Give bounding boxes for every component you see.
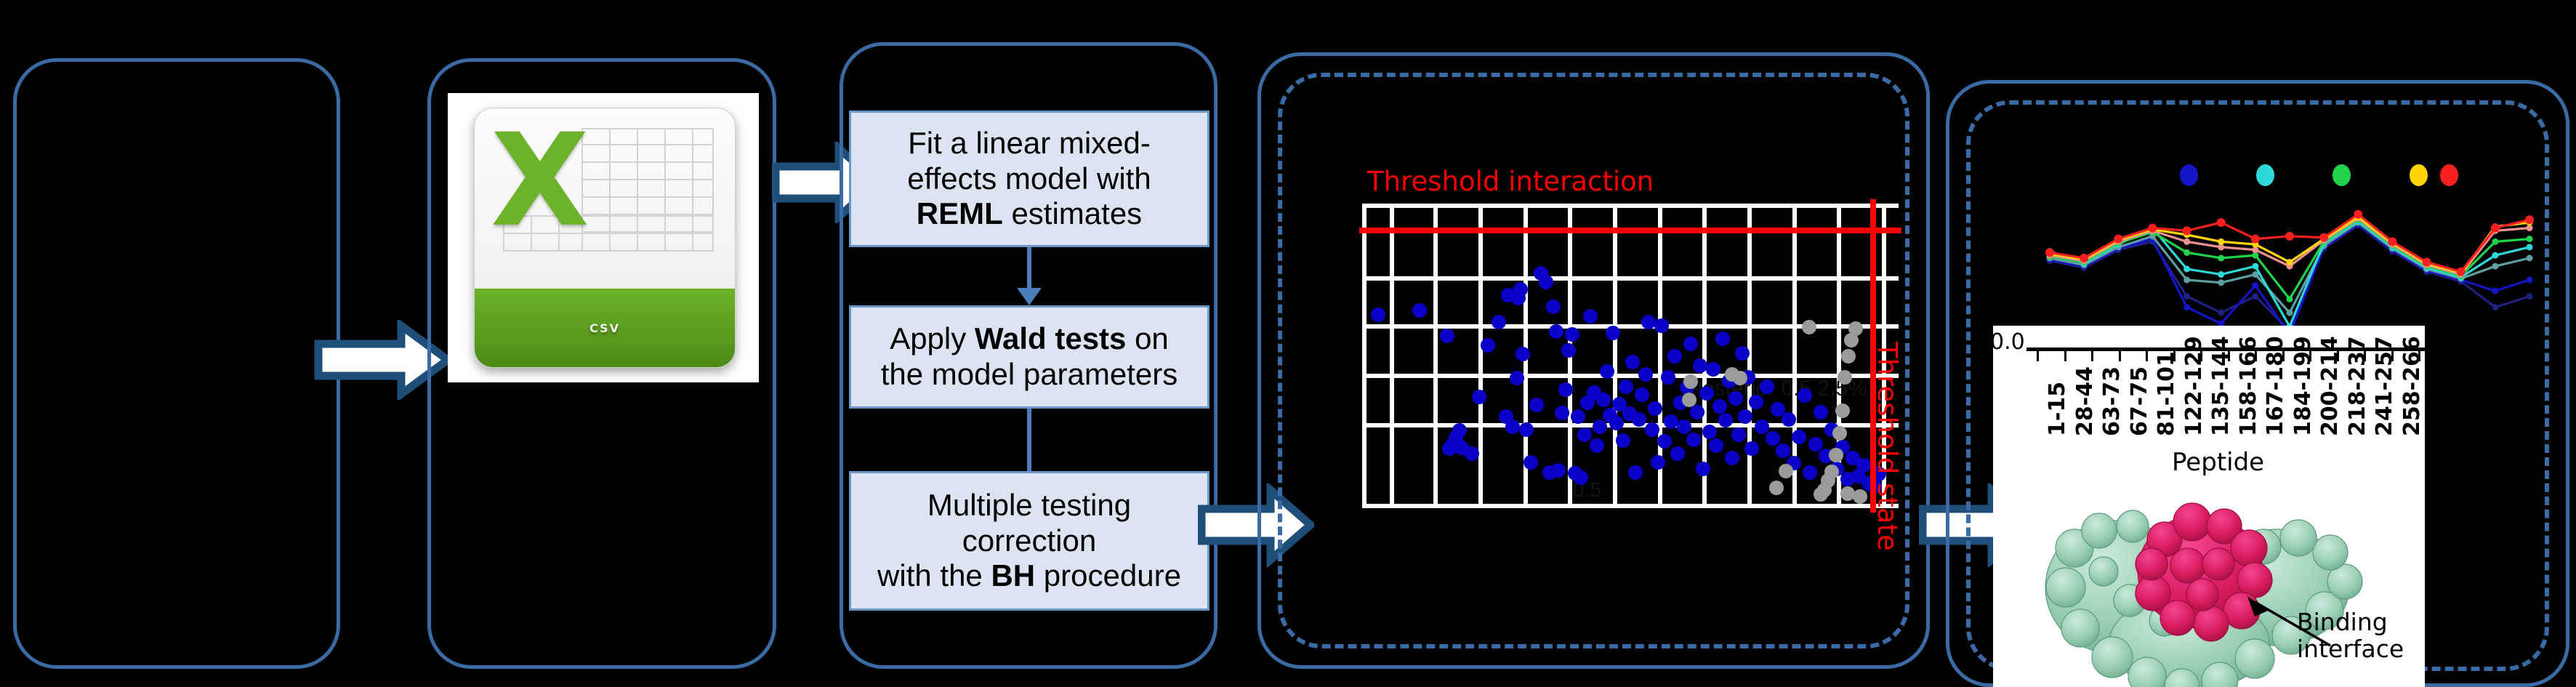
scatter-point xyxy=(1731,427,1746,442)
scatter-point xyxy=(1814,405,1828,419)
input-panel xyxy=(13,58,340,669)
peptide-axis-title: Peptide xyxy=(2172,448,2264,477)
scatter-point xyxy=(1715,332,1730,346)
scatter-point xyxy=(1728,391,1743,406)
axis-tick xyxy=(2119,350,2121,361)
line-marker xyxy=(2492,252,2498,259)
scatter-point xyxy=(1670,446,1685,461)
scatter-point xyxy=(1835,403,1850,418)
line-marker xyxy=(2388,237,2396,246)
scatter-point xyxy=(1683,337,1698,351)
binding-interface-line-1: Binding xyxy=(2297,609,2404,636)
scatter-point xyxy=(1832,426,1847,441)
scatter-point xyxy=(1702,425,1717,439)
scatter-point xyxy=(1546,300,1561,314)
scatter-point xyxy=(1571,409,1585,424)
scatter-point xyxy=(1625,355,1640,369)
line-marker xyxy=(2287,259,2293,265)
scatter-point xyxy=(1683,374,1698,389)
axis-tick xyxy=(2091,350,2093,361)
legend-dot-blue xyxy=(2180,164,2198,186)
line-marker xyxy=(2491,224,2500,233)
scatter-point xyxy=(1641,315,1656,329)
csv-file-icon: X CSV xyxy=(474,108,736,368)
scatter-point xyxy=(1510,371,1524,385)
line-marker xyxy=(2183,277,2190,284)
line-marker xyxy=(2354,210,2362,219)
line-marker xyxy=(2252,282,2258,289)
line-marker xyxy=(2527,255,2533,262)
scatter-point xyxy=(1706,362,1720,377)
scatter-point xyxy=(1848,321,1863,336)
scatter-point xyxy=(1735,346,1750,361)
scatter-point xyxy=(1699,386,1714,401)
scatter-point xyxy=(1593,419,1607,434)
scatter-point xyxy=(1693,358,1707,373)
workflow-diagram: X CSV Fit a linear mixed-effects model w… xyxy=(0,0,2576,687)
line-marker xyxy=(2218,271,2224,278)
scatter-point xyxy=(1600,364,1614,379)
step-multiple-testing-box: Multiple testingcorrectionwith the BH pr… xyxy=(849,471,1209,611)
peptide-tick-label: 258-266 xyxy=(2399,336,2425,436)
line-marker xyxy=(2114,235,2122,244)
scatter-point xyxy=(1841,349,1856,363)
legend-dot-yellow xyxy=(2410,164,2428,186)
scatter-point xyxy=(1583,309,1598,324)
line-marker xyxy=(2492,263,2498,270)
scatter-point xyxy=(1452,423,1467,438)
csv-icon-plate: X CSV xyxy=(448,93,759,382)
line-marker xyxy=(2080,254,2088,262)
scatter-point xyxy=(1472,390,1486,404)
line-marker xyxy=(2183,238,2190,245)
scatter-point xyxy=(1677,419,1691,434)
peptide-tick-label: 67-75 xyxy=(2127,366,2152,436)
line-marker xyxy=(2527,293,2533,300)
line-marker xyxy=(2527,236,2533,242)
peptide-tick-label: 218-237 xyxy=(2345,336,2370,436)
line-marker xyxy=(2252,263,2258,270)
scatter-point xyxy=(1798,388,1812,403)
peptide-tick-label: 81-101 xyxy=(2154,351,2179,436)
line-marker xyxy=(2423,258,2431,267)
connector-2 xyxy=(1027,409,1031,481)
threshold-interaction-label: Threshold interaction xyxy=(1367,166,1654,197)
scatter-point xyxy=(1755,419,1769,434)
scatter-point xyxy=(1551,463,1566,478)
line-marker xyxy=(2252,293,2258,300)
scatter-point xyxy=(1776,443,1790,458)
legend-dot-red xyxy=(2440,164,2458,186)
scatter-point xyxy=(1558,382,1573,397)
peptide-tick-label: 1-15 xyxy=(2045,382,2070,436)
scatter-point xyxy=(1606,326,1620,340)
scatter-point xyxy=(1516,347,1530,361)
axis-tick xyxy=(2064,350,2066,361)
scatter-point xyxy=(1853,489,1867,504)
scatter-point xyxy=(1628,465,1643,480)
line-marker xyxy=(2183,293,2190,300)
line-marker xyxy=(2492,288,2498,294)
scatter-point xyxy=(1561,343,1576,358)
scatter-point xyxy=(1645,422,1659,437)
csv-label-band: CSV xyxy=(475,289,735,367)
threshold-state-label: Threshold state xyxy=(1872,342,1903,551)
line-marker xyxy=(2492,238,2498,245)
y-axis-tick-label: 0.0 xyxy=(1993,329,2025,355)
scatter-point xyxy=(1565,327,1579,342)
peptide-tick-label: 122-129 xyxy=(2181,336,2207,436)
line-marker xyxy=(2525,215,2534,224)
scatter-point xyxy=(1539,275,1553,289)
legend-dot-cyan xyxy=(2256,164,2274,186)
scatter-point xyxy=(1690,405,1704,419)
line-marker xyxy=(2218,279,2224,286)
peptide-tick-label: 241-257 xyxy=(2372,336,2397,436)
scatter-point xyxy=(1651,455,1665,470)
scatter-point xyxy=(1856,458,1871,473)
scatter-point xyxy=(1725,451,1739,465)
line-marker xyxy=(2183,226,2191,235)
scatter-point xyxy=(1529,398,1544,412)
scatter-point xyxy=(1657,434,1672,449)
scatter-point xyxy=(1638,367,1653,382)
step-multiple-testing-text: Multiple testingcorrectionwith the BH pr… xyxy=(873,488,1186,594)
scatter-point xyxy=(1596,393,1611,407)
line-marker xyxy=(2183,266,2190,273)
scatter-point xyxy=(1524,455,1538,470)
scatter-point xyxy=(1654,318,1669,333)
scatter-point xyxy=(1371,308,1385,322)
scatter-point xyxy=(1808,437,1823,451)
scatter-point xyxy=(1667,349,1682,363)
scatter-point xyxy=(1555,406,1569,420)
scatter-point xyxy=(1505,419,1520,434)
threshold-interaction-line xyxy=(1359,228,1901,233)
peptide-tick-label: 200-214 xyxy=(2317,336,2343,436)
scatter-point xyxy=(1549,324,1563,339)
axis-tick xyxy=(2146,350,2148,361)
line-marker xyxy=(2527,244,2533,250)
scatter-point xyxy=(1766,431,1780,446)
line-marker xyxy=(2218,310,2224,316)
line-marker xyxy=(2217,218,2226,227)
scatter-point xyxy=(1686,433,1701,447)
peptide-tick-label: 28-44 xyxy=(2072,366,2098,436)
peptide-tick-label: 167-180 xyxy=(2263,336,2288,436)
peptide-tick-label: 63-73 xyxy=(2099,366,2125,436)
line-marker xyxy=(2045,248,2054,257)
line-marker xyxy=(2492,304,2498,310)
scatter-point xyxy=(1465,446,1479,461)
scatter-point xyxy=(1412,303,1427,318)
scatter-point xyxy=(1792,430,1806,444)
excel-x-glyph: X xyxy=(491,117,589,245)
scatter-point xyxy=(1577,427,1592,442)
structure-card: 1-1528-4463-7367-7581-101122-129135-1441… xyxy=(1993,326,2425,687)
binding-interface-line-2: interface xyxy=(2297,636,2404,663)
axis-tick xyxy=(2037,350,2039,361)
peptide-tick-label: 135-144 xyxy=(2208,336,2234,436)
scatter-point xyxy=(1712,399,1727,414)
line-marker xyxy=(2183,304,2190,310)
scatter-point xyxy=(1709,438,1723,453)
step-fit-model-text: Fit a linear mixed-effects model withREM… xyxy=(903,126,1155,232)
line-marker xyxy=(2148,224,2157,233)
scatter-plot: Posterior 0.5 2.5% 0.5 xyxy=(1362,204,1899,508)
peptide-tick-label: 184-199 xyxy=(2290,336,2316,436)
scatter-point xyxy=(1519,422,1534,437)
binding-interface-annotation: Binding interface xyxy=(2297,609,2404,663)
scatter-point xyxy=(1779,464,1793,478)
scatter-point xyxy=(1648,401,1662,416)
scatter-point xyxy=(1696,462,1710,476)
scatter-point xyxy=(1829,448,1843,462)
line-marker xyxy=(2183,249,2190,256)
scatter-point xyxy=(1619,379,1633,394)
step-wald-tests-box: Apply Wald tests onthe model parameters xyxy=(849,305,1209,409)
scatter-point xyxy=(1803,465,1817,480)
legend-dot-green xyxy=(2333,164,2351,186)
line-marker xyxy=(2527,277,2533,284)
scatter-point xyxy=(1838,370,1852,385)
scatter-point xyxy=(1616,433,1630,448)
line-marker xyxy=(2319,233,2328,242)
connector-1-arrowhead xyxy=(1017,288,1042,305)
scatter-point xyxy=(1802,320,1816,334)
scatter-point xyxy=(1590,438,1604,453)
scatter-point xyxy=(1733,371,1747,385)
scatter-point xyxy=(1635,387,1649,402)
peptide-tick-label: 158-166 xyxy=(2236,336,2261,436)
line-marker xyxy=(2287,310,2293,316)
step-wald-tests-text: Apply Wald tests onthe model parameters xyxy=(877,321,1183,392)
scatter-point xyxy=(1661,370,1675,385)
csv-label: CSV xyxy=(589,321,620,335)
scatter-point xyxy=(1609,416,1624,430)
scatter-point xyxy=(1440,329,1454,343)
scatter-point xyxy=(1769,481,1784,495)
line-marker xyxy=(2287,296,2293,302)
scatter-point xyxy=(1749,395,1763,409)
step-fit-model-box: Fit a linear mixed-effects model withREM… xyxy=(849,111,1209,247)
line-marker xyxy=(2285,232,2294,241)
line-marker xyxy=(2218,255,2224,262)
peptide-line-chart xyxy=(2042,195,2537,340)
scatter-point xyxy=(1744,441,1759,456)
line-marker xyxy=(2251,235,2260,244)
line-marker xyxy=(2218,238,2224,245)
line-marker xyxy=(2457,268,2466,276)
scatter-point xyxy=(1481,338,1495,353)
